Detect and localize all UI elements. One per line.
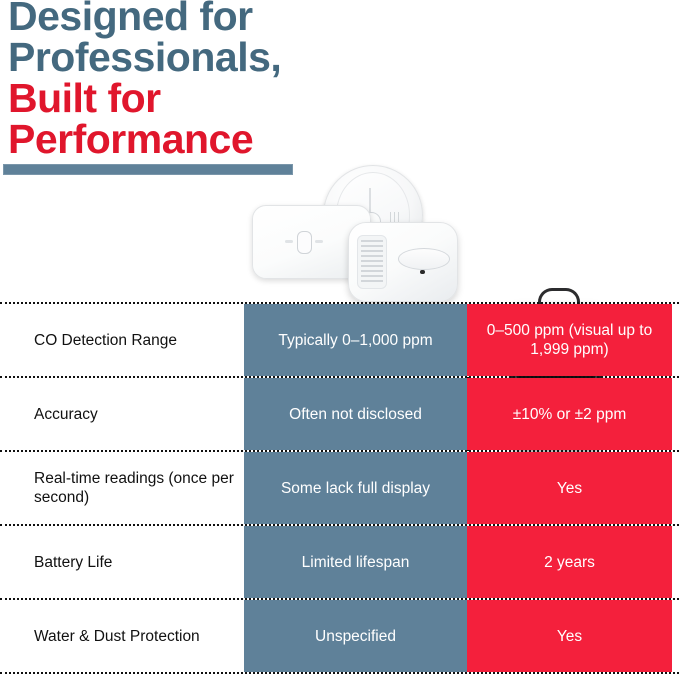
residential-alarm-rect-slot-right: [315, 240, 323, 243]
table-row: Accuracy Often not disclosed ±10% or ±2 …: [0, 376, 679, 450]
residential-alarm-rect-slot-left: [285, 240, 293, 243]
residential-alarm-front-led: [420, 270, 425, 274]
row-label: Real-time readings (once per second): [0, 452, 244, 524]
row-value-sensorcon: ±10% or ±2 ppm: [467, 378, 672, 450]
row-label: CO Detection Range: [0, 304, 244, 376]
row-value-sensorcon: 0–500 ppm (visual up to 1,999 ppm): [467, 304, 672, 376]
residential-alarm-rect-test-button: [297, 231, 312, 254]
headline-line-3: Built for: [8, 78, 428, 119]
row-value-consumer: Typically 0–1,000 ppm: [244, 304, 467, 376]
table-row: Real-time readings (once per second) Som…: [0, 450, 679, 524]
row-value-consumer: Unspecified: [244, 600, 467, 672]
row-label: Accuracy: [0, 378, 244, 450]
residential-alarm-round-vent-right: [390, 212, 402, 222]
row-label: Water & Dust Protection: [0, 600, 244, 672]
page-headline: Designed for Professionals, Built for Pe…: [8, 0, 428, 160]
row-value-sensorcon: Yes: [467, 452, 672, 524]
table-row: CO Detection Range Typically 0–1,000 ppm…: [0, 302, 679, 376]
row-value-consumer: Some lack full display: [244, 452, 467, 524]
headline-line-1: Designed for: [8, 0, 428, 37]
residential-alarm-front-button: [398, 248, 450, 270]
row-label: Battery Life: [0, 526, 244, 598]
table-row: Battery Life Limited lifespan 2 years: [0, 524, 679, 598]
residential-alarm-front-grill: [357, 235, 387, 289]
headline-line-2: Professionals,: [8, 37, 428, 78]
row-value-sensorcon: 2 years: [467, 526, 672, 598]
residential-alarm-round-stem: [369, 188, 371, 214]
row-value-sensorcon: Yes: [467, 600, 672, 672]
row-value-consumer: Often not disclosed: [244, 378, 467, 450]
comparison-table: CO Detection Range Typically 0–1,000 ppm…: [0, 302, 679, 674]
table-row: Water & Dust Protection Unspecified Yes: [0, 598, 679, 674]
row-value-consumer: Limited lifespan: [244, 526, 467, 598]
product-imagery: SENS◉RCON | INSPECTOR INDUSTRIAL 0 ppm M…: [0, 150, 679, 305]
